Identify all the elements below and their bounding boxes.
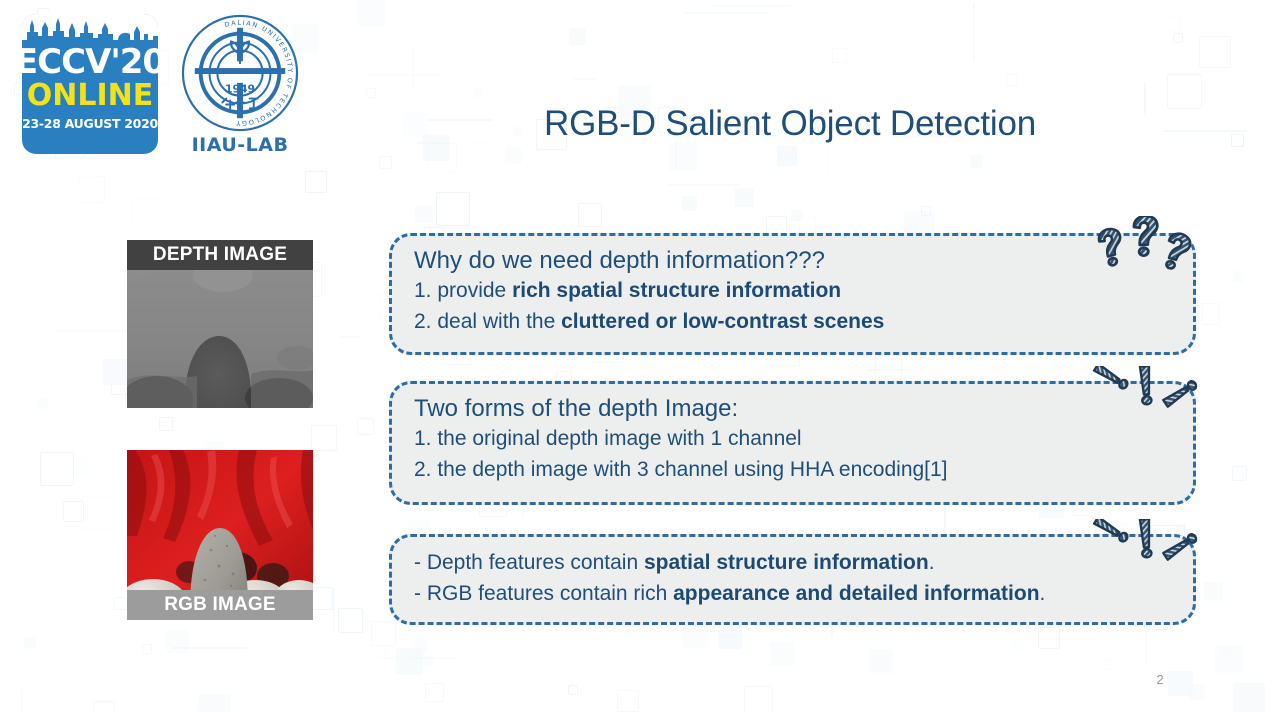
dlut-logo: 1949 DALIAN UNIVERSITY OF TECHNOLOGY IIA… — [176, 14, 304, 156]
callout-line: Two forms of the depth Image: — [414, 393, 1193, 424]
depth-image-caption: DEPTH IMAGE — [127, 240, 313, 270]
callout-lines: - Depth features contain spatial structu… — [392, 537, 1193, 609]
eccv-wordmark: ECCV'20 ONLINE 23-28 AUGUST 2020 — [22, 45, 158, 131]
callout-box-two-forms: Two forms of the depth Image: 1. the ori… — [389, 381, 1196, 505]
callout-line: Why do we need depth information??? — [414, 245, 1193, 276]
callout-line: - Depth features contain spatial structu… — [414, 548, 1193, 579]
eccv-logo: ECCV'20 ONLINE 23-28 AUGUST 2020 — [22, 14, 158, 154]
page-title: RGB-D Salient Object Detection — [340, 104, 1240, 144]
callout-line: 1. the original depth image with 1 chann… — [414, 424, 1193, 455]
dlut-lab-label: IIAU-LAB — [192, 134, 289, 156]
callout-line: 2. deal with the cluttered or low-contra… — [414, 307, 1193, 338]
logo-group: ECCV'20 ONLINE 23-28 AUGUST 2020 1949 — [22, 14, 304, 156]
callout-box-feature-summary: - Depth features contain spatial structu… — [389, 534, 1196, 625]
rgb-image-card: RGB IMAGE — [127, 450, 313, 620]
callout-lines: Why do we need depth information??? 1. p… — [392, 236, 1193, 338]
callout-line: 1. provide rich spatial structure inform… — [414, 276, 1193, 307]
rgb-image-caption: RGB IMAGE — [127, 590, 313, 620]
page-number: 2 — [1140, 672, 1180, 687]
dlut-seal-icon: 1949 DALIAN UNIVERSITY OF TECHNOLOGY — [181, 14, 299, 132]
callout-line: - RGB features contain rich appearance a… — [414, 579, 1193, 610]
eccv-title: ECCV'20 — [22, 45, 158, 79]
callout-box-why-depth: Why do we need depth information??? 1. p… — [389, 233, 1196, 355]
eccv-online: ONLINE — [22, 81, 158, 111]
depth-image-card: DEPTH IMAGE — [127, 240, 313, 408]
slide: ECCV'20 ONLINE 23-28 AUGUST 2020 1949 — [0, 0, 1274, 712]
eccv-date: 23-28 AUGUST 2020 — [22, 118, 158, 131]
callout-lines: Two forms of the depth Image: 1. the ori… — [392, 384, 1193, 486]
dlut-year: 1949 — [225, 83, 255, 96]
callout-line: 2. the depth image with 3 channel using … — [414, 455, 1193, 486]
